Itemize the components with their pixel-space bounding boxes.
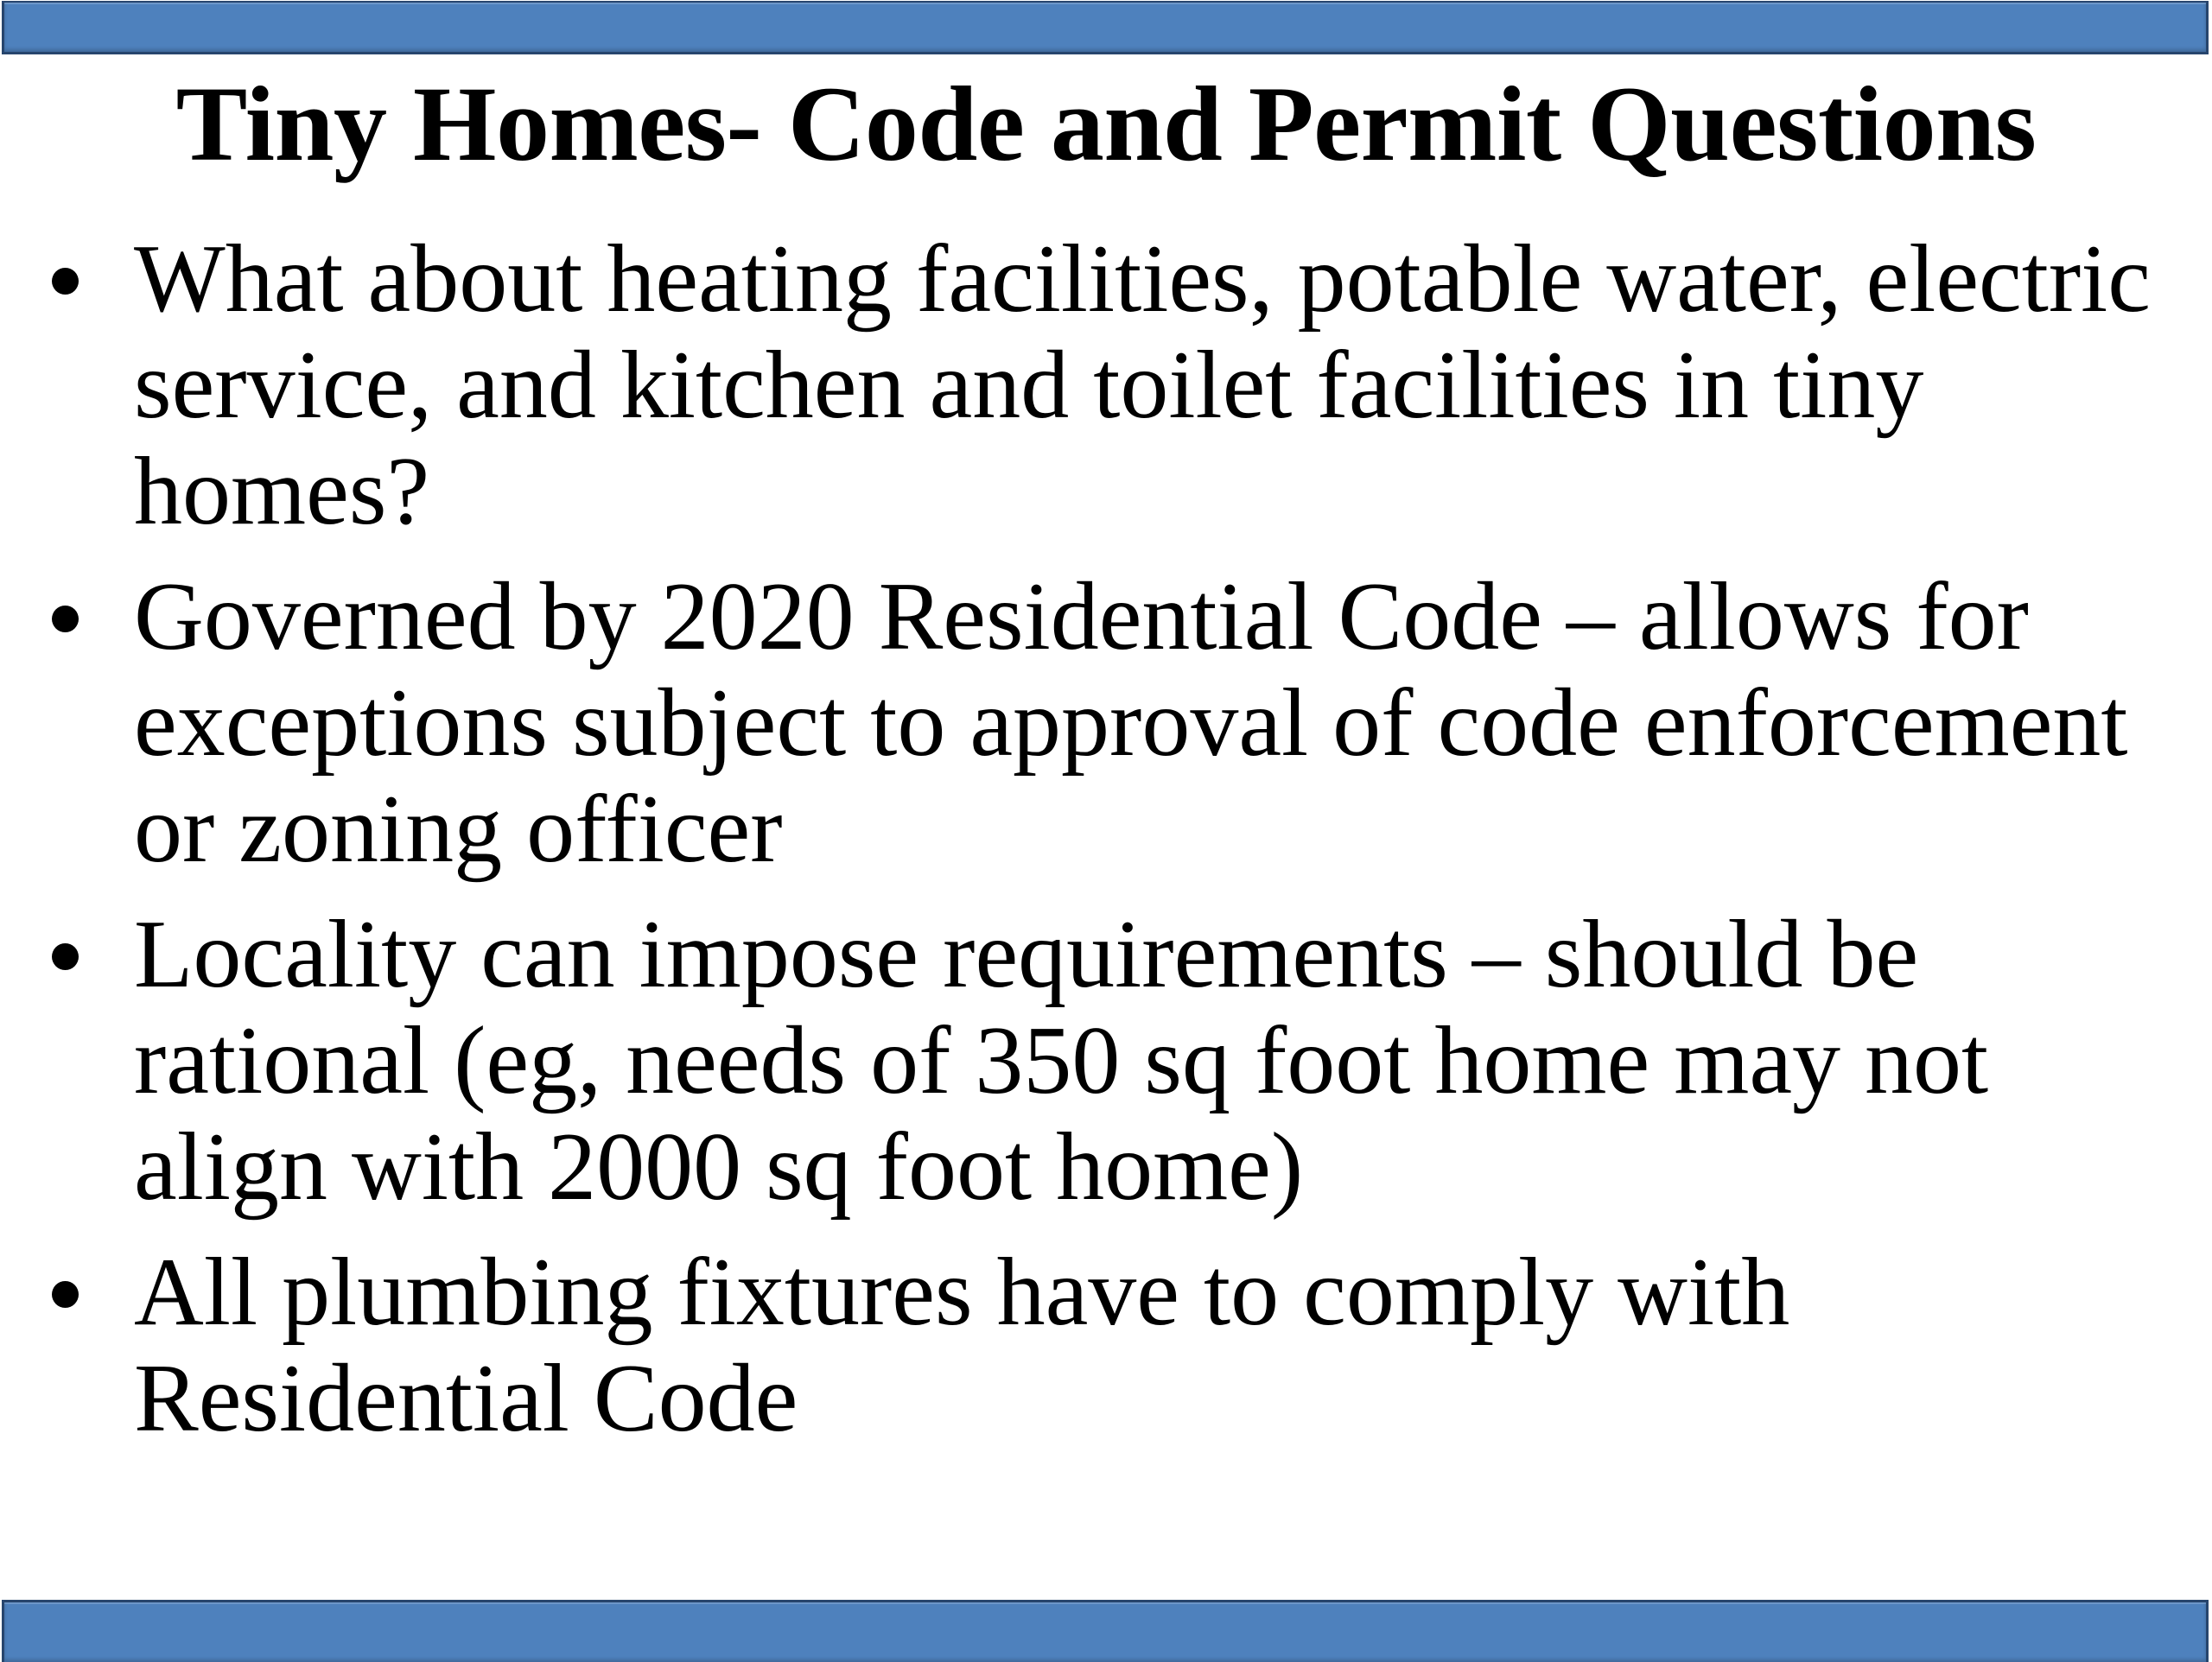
top-accent-bar (2, 1, 2209, 54)
bullet-point-icon (52, 606, 79, 632)
list-item-text: Locality can impose requirements – shoul… (134, 902, 2179, 1221)
bullet-point-icon (52, 268, 79, 295)
list-item: All plumbing fixtures have to comply wit… (45, 1240, 2179, 1452)
list-item-text: All plumbing fixtures have to comply wit… (134, 1240, 2179, 1452)
list-item: What about heating facilities, potable w… (45, 226, 2179, 545)
slide: Tiny Homes- Code and Permit Questions Wh… (0, 0, 2212, 1659)
slide-title: Tiny Homes- Code and Permit Questions (0, 67, 2212, 181)
list-item-text: What about heating facilities, potable w… (134, 226, 2179, 545)
bottom-accent-bar (2, 1600, 2209, 1662)
bullet-point-icon (52, 1281, 79, 1308)
list-item: Governed by 2020 Residential Code – allo… (45, 564, 2179, 883)
list-item-text: Governed by 2020 Residential Code – allo… (134, 564, 2179, 883)
bullet-list: What about heating facilities, potable w… (45, 226, 2179, 1452)
bullet-point-icon (52, 943, 79, 970)
list-item: Locality can impose requirements – shoul… (45, 902, 2179, 1221)
